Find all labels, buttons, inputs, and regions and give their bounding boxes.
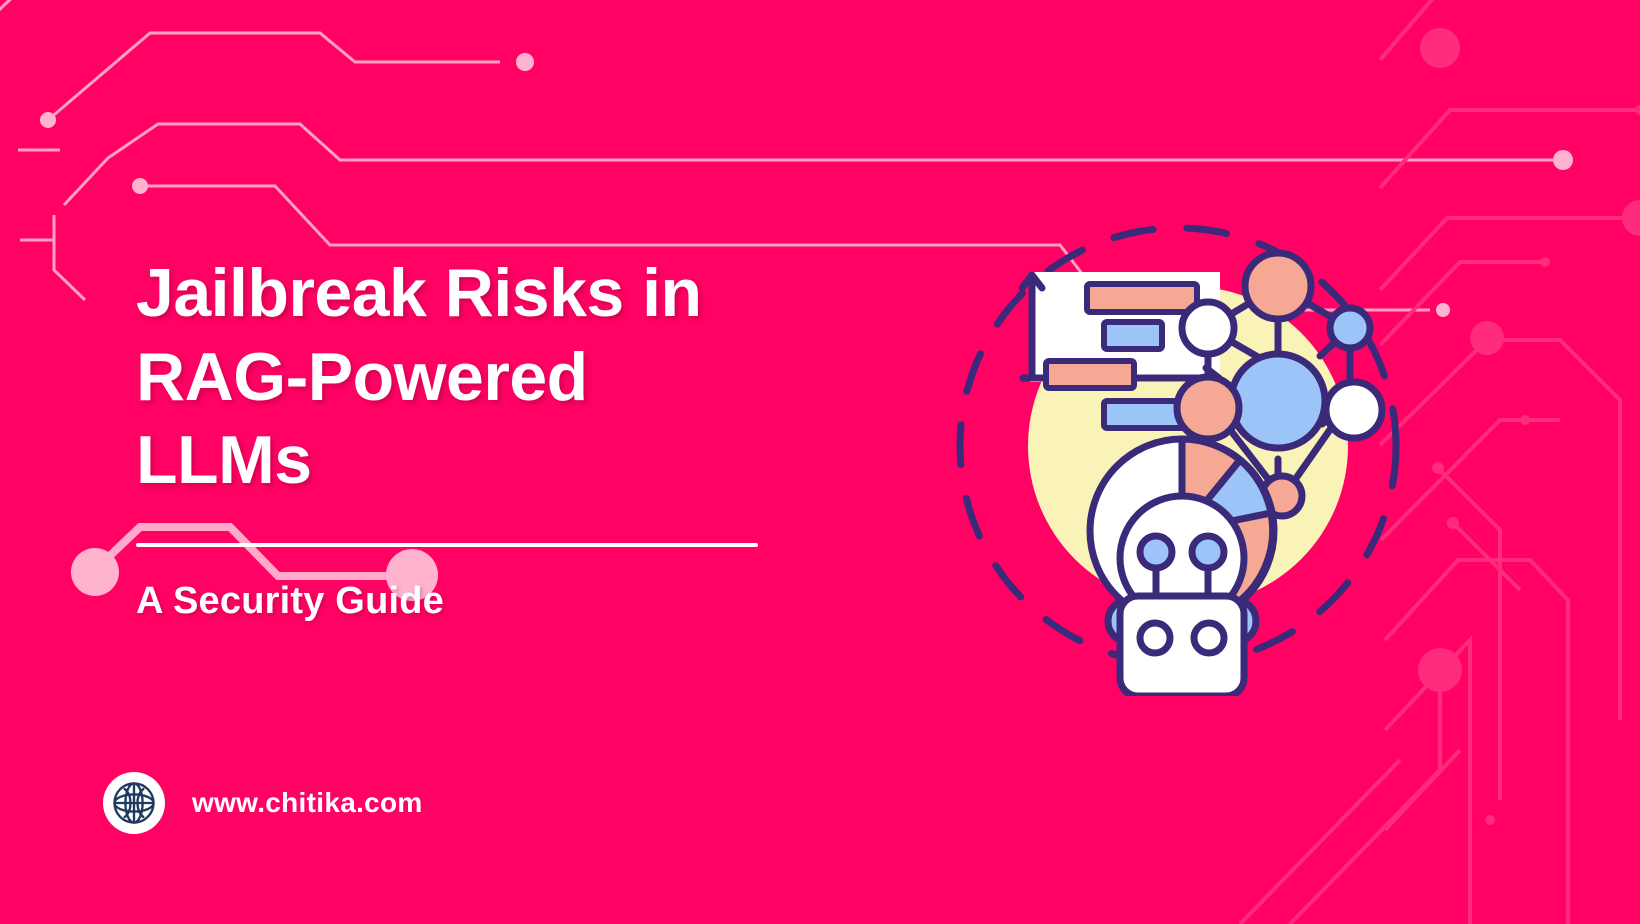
- ai-analytics-illustration: [930, 196, 1430, 696]
- hero-text-block: Jailbreak Risks in RAG-Powered LLMs A Se…: [136, 252, 816, 623]
- robot-antenna-right: [1192, 536, 1224, 568]
- logo-badge: [103, 772, 165, 834]
- node-blue-right: [1330, 308, 1370, 348]
- bar-1: [1087, 284, 1197, 312]
- bar-3: [1046, 361, 1134, 388]
- globe-logo-icon: [109, 778, 159, 828]
- node-salmon-top: [1245, 253, 1311, 319]
- robot-eye-left: [1140, 623, 1170, 653]
- node-white-right: [1326, 382, 1382, 438]
- page-title: Jailbreak Risks in RAG-Powered LLMs: [136, 252, 756, 503]
- page-subtitle: A Security Guide: [136, 580, 816, 623]
- node-salmon-left: [1177, 377, 1239, 439]
- robot-icon: [1108, 496, 1256, 696]
- robot-eye-right: [1194, 623, 1224, 653]
- node-white-left: [1182, 302, 1234, 354]
- robot-antenna-left: [1140, 536, 1172, 568]
- node-blue-center: [1231, 354, 1325, 448]
- title-divider: [136, 543, 758, 547]
- poster-canvas: Jailbreak Risks in RAG-Powered LLMs A Se…: [0, 0, 1640, 924]
- bar-2: [1104, 322, 1162, 349]
- brand-footer: www.chitika.com: [103, 772, 423, 834]
- site-url-label: www.chitika.com: [192, 787, 423, 819]
